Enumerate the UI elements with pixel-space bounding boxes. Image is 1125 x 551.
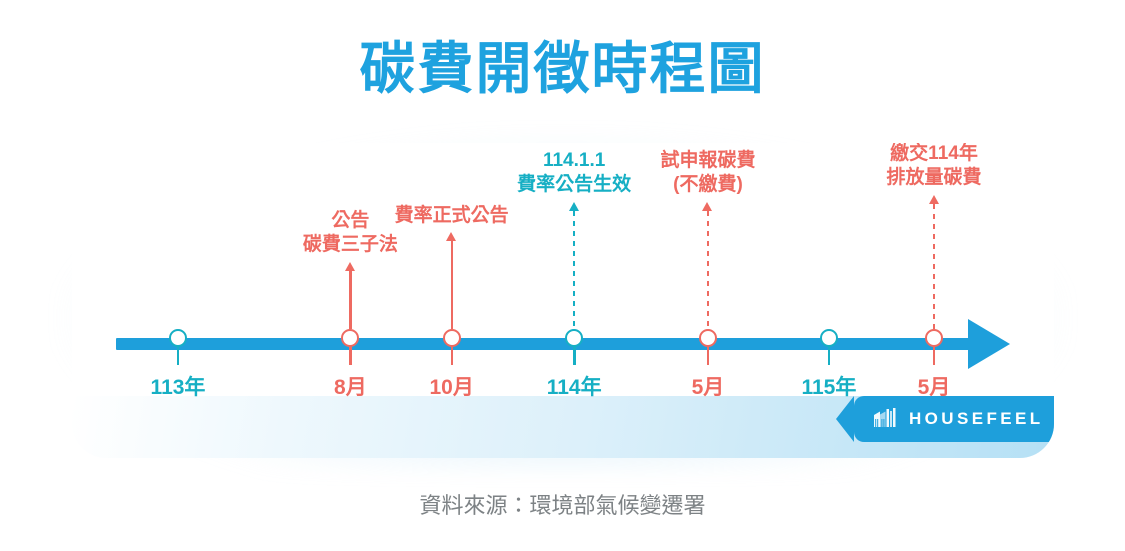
callout-arrow-icon <box>702 202 712 211</box>
axis-label: 114年 <box>504 371 644 401</box>
callout-stem <box>573 211 575 329</box>
milestone-tick <box>828 347 830 365</box>
callout-line: 費率正式公告 <box>322 204 582 228</box>
callout-arrow-icon <box>569 202 579 211</box>
callout-line: (不繳費) <box>578 173 838 197</box>
callout-stem <box>933 204 935 329</box>
callout-stem <box>707 211 709 329</box>
housefeel-logo-text: HOUSEFEEL <box>909 409 1044 429</box>
milestone-dot <box>699 329 717 347</box>
axis-label: 10月 <box>382 371 522 401</box>
milestone-tick <box>707 347 709 365</box>
callout-label: 繳交114年排放量碳費 <box>804 143 1054 191</box>
milestone-tick <box>177 347 179 365</box>
callout-label: 費率正式公告 <box>322 204 582 228</box>
callout-arrow-icon <box>446 232 456 241</box>
milestone-dot <box>169 329 187 347</box>
timeline-arrow-icon <box>968 319 1010 369</box>
milestone-tick <box>451 347 453 365</box>
milestone-tick <box>933 347 935 365</box>
callout-line: 繳交114年 <box>804 143 1054 166</box>
source-caption: 資料來源：環境部氣候變遷署 <box>0 488 1125 520</box>
callout-line: 排放量碳費 <box>804 166 1054 190</box>
milestone-tick <box>573 347 575 365</box>
milestone-dot <box>443 329 461 347</box>
callout-arrow-icon <box>345 262 355 271</box>
milestone-tick <box>349 347 351 365</box>
timeline-card: 113年8月公告碳費三子法10月費率正式公告114年114.1.1費率公告生效5… <box>72 143 1054 458</box>
infographic-page: 碳費開徵時程圖 113年8月公告碳費三子法10月費率正式公告114年114.1.… <box>0 0 1125 551</box>
callout-line: 試申報碳費 <box>578 149 838 173</box>
axis-label: 113年 <box>108 371 248 401</box>
callout-arrow-icon <box>929 195 939 204</box>
timeline-axis <box>116 338 986 350</box>
card-surface: 113年8月公告碳費三子法10月費率正式公告114年114.1.1費率公告生效5… <box>72 143 1054 458</box>
page-title: 碳費開徵時程圖 <box>0 37 1125 101</box>
milestone-dot <box>820 329 838 347</box>
callout-label: 試申報碳費(不繳費) <box>578 149 838 198</box>
building-skyline-icon <box>872 406 898 432</box>
axis-label: 5月 <box>638 371 778 401</box>
callout-line: 碳費三子法 <box>220 233 480 257</box>
housefeel-logo-ribbon: HOUSEFEEL <box>854 396 1054 442</box>
milestone-dot <box>925 329 943 347</box>
callout-stem <box>349 271 351 329</box>
callout-stem <box>451 241 453 329</box>
